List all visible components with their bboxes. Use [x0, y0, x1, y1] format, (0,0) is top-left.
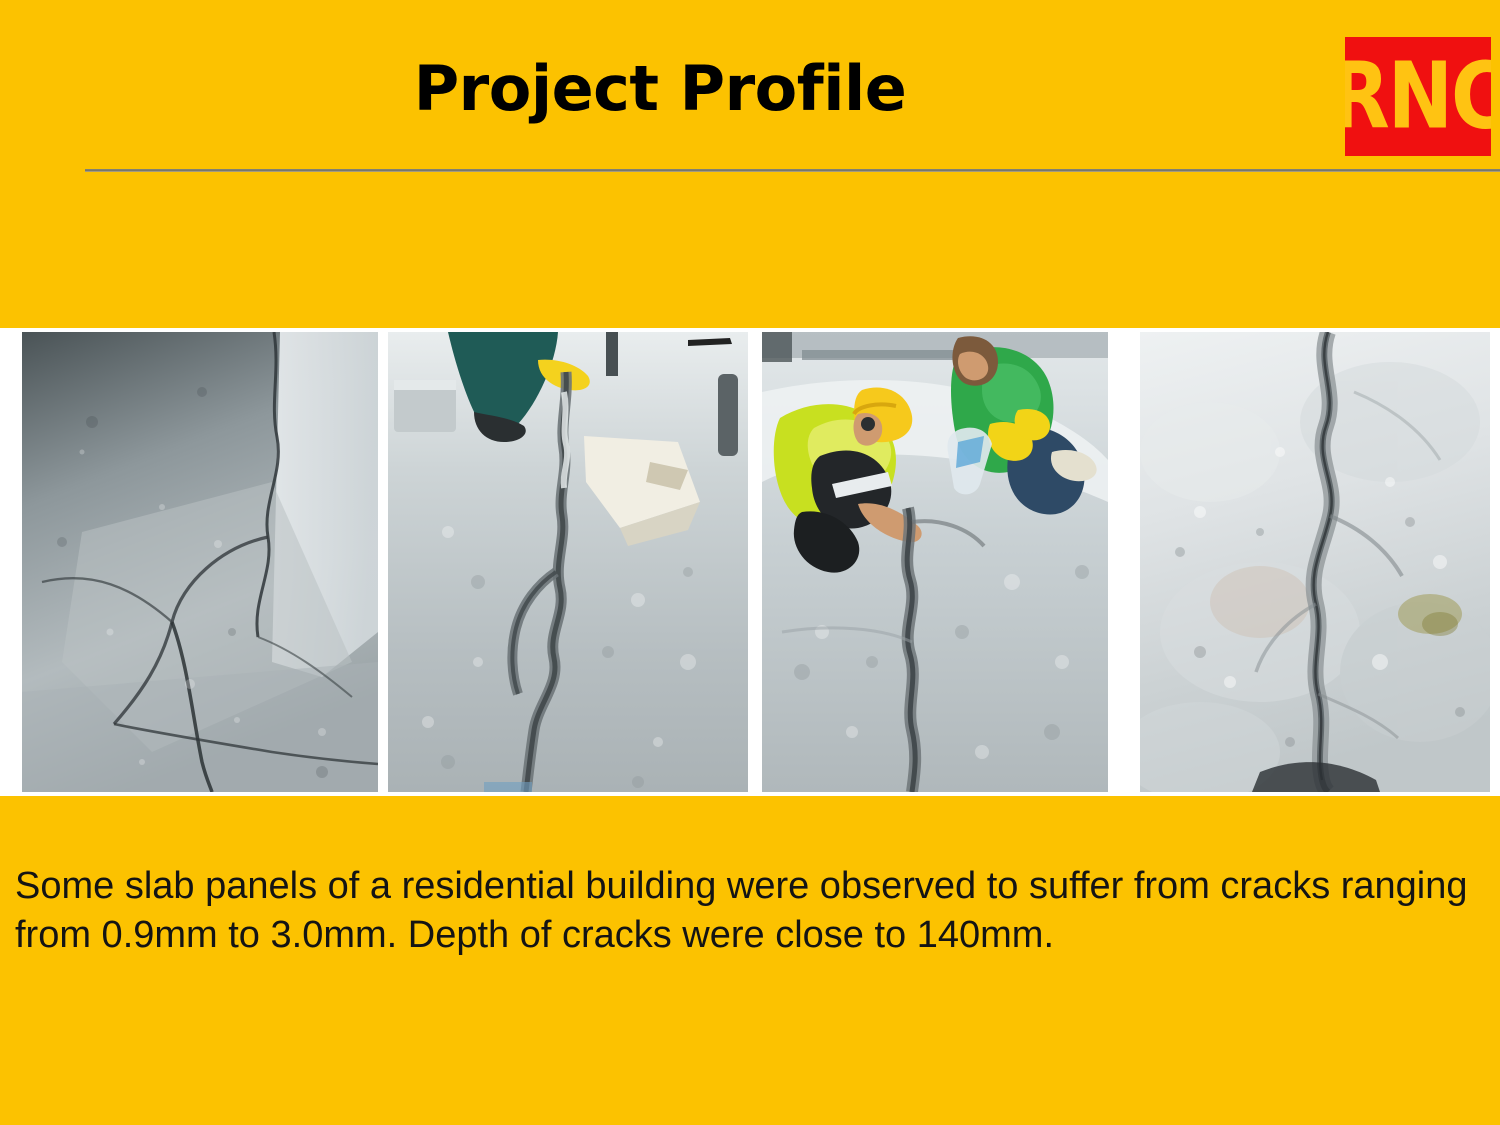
header-divider — [85, 169, 1500, 172]
photo-cracked-slab-overview — [22, 332, 378, 792]
photo-4-graphic — [1140, 332, 1490, 792]
photo-1-graphic — [22, 332, 378, 792]
photo-gallery — [0, 328, 1500, 796]
photo-2-graphic — [388, 332, 748, 792]
page-title: Project Profile — [0, 52, 1320, 126]
photo-crack-closeup — [1140, 332, 1490, 792]
photo-3-graphic — [762, 332, 1108, 792]
rnc-logo-text: RNC — [1345, 50, 1491, 142]
photo-two-workers-inspecting — [762, 332, 1108, 792]
slide-project-profile: Project Profile RNC — [0, 0, 1500, 1125]
caption-text: Some slab panels of a residential buildi… — [15, 862, 1475, 960]
rnc-logo: RNC — [1345, 37, 1491, 156]
photo-worker-sealing-crack — [388, 332, 748, 792]
